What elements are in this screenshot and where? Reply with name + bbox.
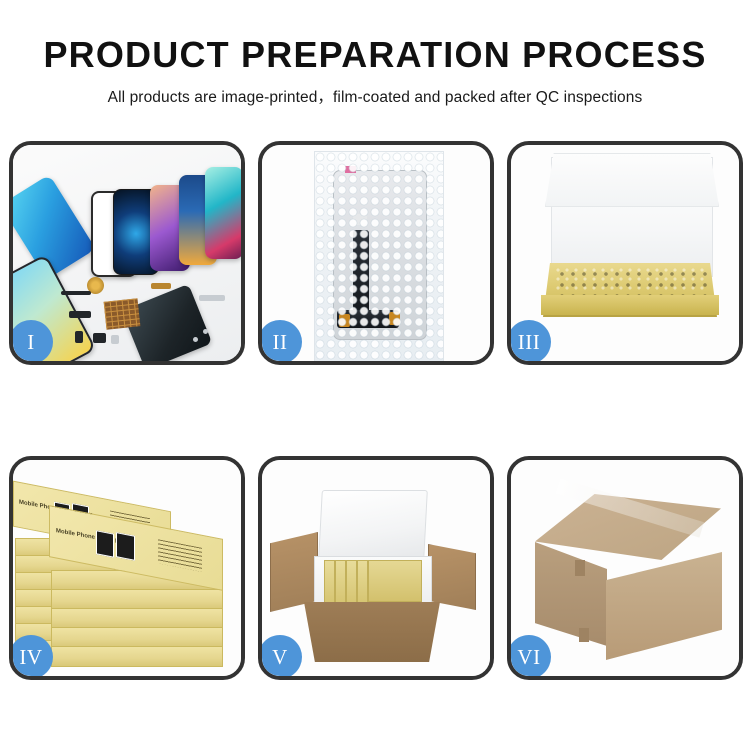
product-preparation-infographic: PRODUCT PREPARATION PROCESS All products… [0, 0, 750, 750]
box-print-screen-c [96, 530, 114, 557]
kraft-box-front-edge [541, 295, 719, 315]
step-1-image: I [13, 145, 241, 361]
earpiece-mesh-part [61, 291, 91, 295]
step-badge-1: I [13, 320, 53, 361]
bubble-texture [315, 152, 443, 361]
step-badge-6: VI [511, 635, 551, 676]
yellow-box-group [368, 560, 422, 602]
yellow-box-3 [346, 560, 357, 604]
stacked-box-r5 [51, 646, 223, 667]
step-5-image: V [262, 460, 490, 676]
stacked-box-r4 [51, 627, 223, 648]
process-step-panel-6[interactable]: VI [507, 456, 743, 680]
step-4-image: Mobile Phone Spare Parts Mobile Phone Sp… [13, 460, 241, 676]
flex-cable-part [151, 283, 171, 289]
stacked-box-r3 [51, 608, 223, 629]
page-subtitle: All products are image-printed，film-coat… [0, 85, 750, 107]
stacked-box-r2 [51, 589, 223, 610]
process-step-panel-1[interactable]: I [9, 141, 245, 365]
step-2-image: II [262, 145, 490, 361]
box-print-text-lines-front [158, 539, 202, 572]
screw-b [203, 329, 208, 334]
bubble-wrap-bag [314, 151, 444, 361]
small-component-a [75, 331, 83, 343]
step-badge-5: V [262, 635, 302, 676]
carton-flap-left [270, 532, 318, 612]
yellow-box-4 [357, 560, 368, 604]
grey-foam-sheet [555, 267, 707, 295]
step-badge-2: II [262, 320, 302, 361]
process-step-panel-2[interactable]: II [258, 141, 494, 365]
box-print-screen-d [116, 532, 135, 561]
small-component-b [111, 335, 119, 344]
page-title: PRODUCT PREPARATION PROCESS [0, 36, 750, 74]
header: PRODUCT PREPARATION PROCESS All products… [0, 0, 750, 107]
screw-grid-tray [104, 298, 141, 329]
carton-flap-right [428, 544, 476, 610]
carton-right-face [606, 552, 722, 660]
screw-a [193, 337, 198, 342]
process-steps-grid: I II [9, 141, 743, 680]
carton-left-face [535, 542, 607, 646]
step-6-image: VI [511, 460, 739, 676]
carton-front-wall [304, 602, 440, 662]
carton-seam-lower [579, 628, 589, 642]
phone-teal-screen [205, 167, 241, 259]
process-step-panel-4[interactable]: Mobile Phone Spare Parts Mobile Phone Sp… [9, 456, 245, 680]
carton-seam-upper [575, 560, 585, 576]
step-3-image: III [511, 145, 739, 361]
foam-lid [318, 490, 428, 560]
box-lid-flap [545, 153, 719, 207]
camera-module-part [93, 333, 106, 343]
yellow-box-2 [335, 560, 346, 604]
button-flex-part [69, 311, 91, 318]
step-badge-3: III [511, 320, 551, 361]
step-badge-4: IV [13, 635, 53, 676]
process-step-panel-5[interactable]: V [258, 456, 494, 680]
tweezers-part [199, 295, 225, 301]
process-step-panel-3[interactable]: III [507, 141, 743, 365]
yellow-box-1 [324, 560, 335, 604]
